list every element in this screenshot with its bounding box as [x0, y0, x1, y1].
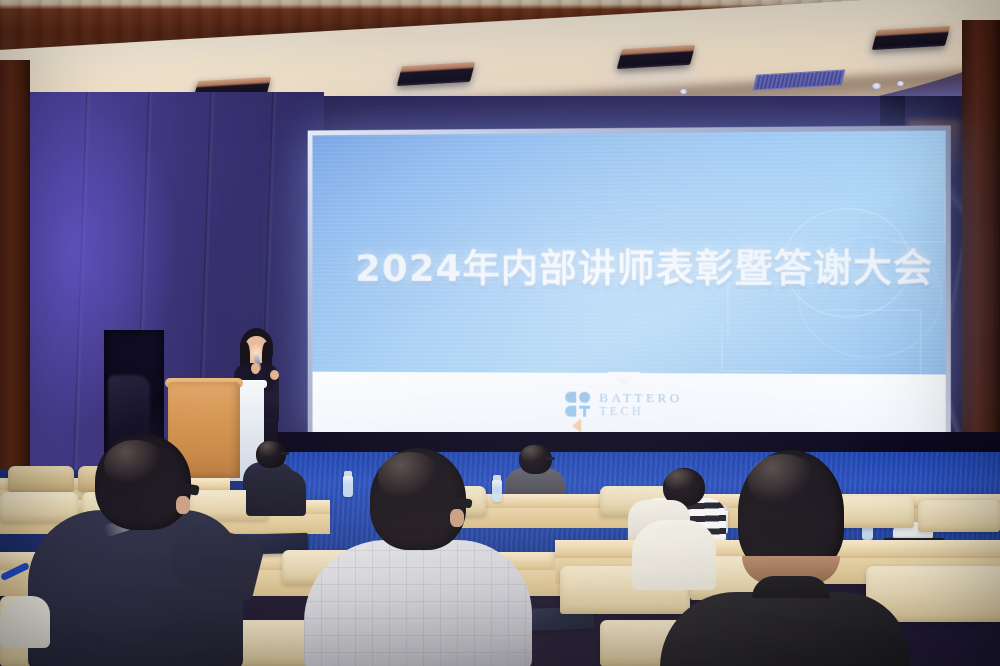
- attendee-white-sleeve-body: [632, 520, 716, 590]
- conference-hall-photo: 2024年内部讲师表彰暨答谢大会 BATTERO TECH: [0, 0, 1000, 666]
- attendee-hair-highlight: [748, 454, 818, 508]
- footer-notch: [607, 372, 641, 385]
- logo-company-sub: TECH: [599, 405, 683, 419]
- downlight-3: [680, 89, 687, 94]
- check-shirt-pattern: [304, 540, 532, 666]
- seat: [918, 500, 1000, 532]
- water-bottle-cap: [344, 471, 352, 476]
- slide-canvas: 2024年内部讲师表彰暨答谢大会 BATTERO TECH: [313, 131, 946, 438]
- presenter-hand-right: [270, 370, 279, 380]
- attendee-hair-highlight: [258, 441, 282, 459]
- water-bottle-cap: [493, 475, 501, 480]
- downlight-4: [872, 83, 881, 89]
- attendee-ear: [450, 509, 464, 527]
- water-bottle: [343, 476, 353, 497]
- glasses: [280, 452, 289, 455]
- attendee-hair-highlight: [104, 440, 166, 488]
- attendee-hair-highlight: [378, 452, 442, 502]
- attendee-arm-left-edge: [0, 596, 50, 648]
- seat: [0, 492, 78, 522]
- left-wood-column: [0, 60, 30, 530]
- battero-logo-icon: [565, 392, 590, 417]
- attendee-black-tshirt-body: [660, 592, 910, 666]
- attendee-hair-highlight: [665, 469, 698, 493]
- attendee-dark-suit-left-body: [246, 470, 306, 516]
- presenter-hand-left: [251, 363, 260, 374]
- slide-footer-band: BATTERO TECH: [313, 372, 946, 438]
- water-bottle: [492, 480, 502, 502]
- tshirt-collar: [752, 576, 830, 598]
- downlight-5: [897, 81, 904, 86]
- attendee-hair-highlight: [521, 445, 547, 464]
- led-screen[interactable]: 2024年内部讲师表彰暨答谢大会 BATTERO TECH: [308, 125, 951, 442]
- glasses: [546, 457, 555, 460]
- logo-triangle-accent: [572, 419, 581, 433]
- seat: [8, 466, 74, 492]
- battero-logo: BATTERO TECH: [313, 389, 946, 420]
- attendee-ear: [176, 496, 190, 514]
